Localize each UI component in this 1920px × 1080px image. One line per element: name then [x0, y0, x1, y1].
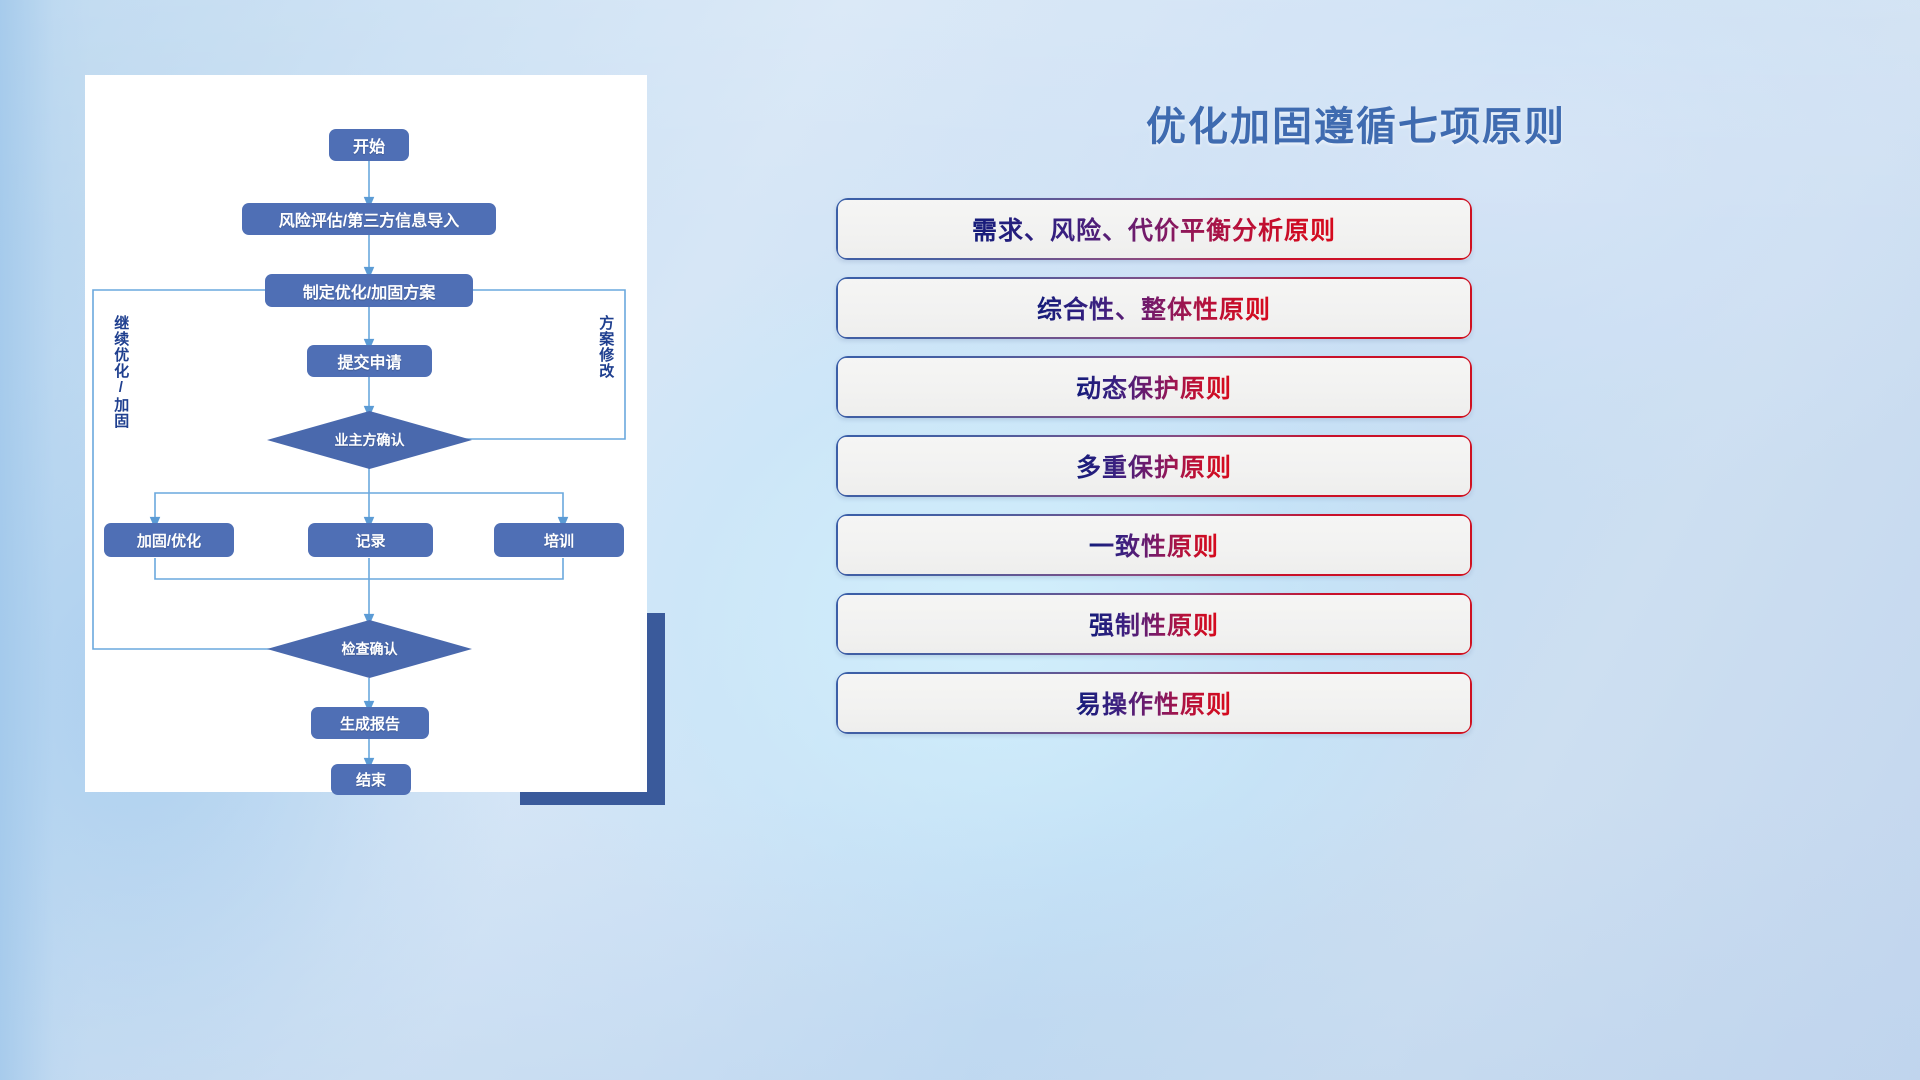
principles-panel: 优化加固遵循七项原则 需求、风险、代价平衡分析原则 综合性、整体性原则 动态保护…	[836, 80, 1876, 840]
principle-label: 易操作性原则	[1076, 685, 1232, 721]
flowchart-panel: 开始 风险评估/第三方信息导入 制定优化/加固方案 提交申请 业主方确认 加固/…	[85, 75, 647, 805]
flow-edge-label-continue-optimize: 继续优化/加固	[113, 315, 128, 445]
principle-label: 综合性、整体性原则	[1037, 290, 1271, 326]
principle-label: 一致性原则	[1089, 527, 1219, 563]
principle-label: 多重保护原则	[1076, 448, 1232, 484]
principle-label: 需求、风险、代价平衡分析原则	[972, 211, 1336, 247]
principle-item-3[interactable]: 动态保护原则	[836, 356, 1472, 418]
flow-node-generate-report[interactable]: 生成报告	[311, 707, 429, 739]
principle-item-7[interactable]: 易操作性原则	[836, 672, 1472, 734]
flow-node-owner-confirm-label: 业主方确认	[335, 430, 405, 450]
principle-item-6[interactable]: 强制性原则	[836, 593, 1472, 655]
principle-item-5[interactable]: 一致性原则	[836, 514, 1472, 576]
flow-node-risk-assessment[interactable]: 风险评估/第三方信息导入	[242, 203, 496, 235]
flow-node-start[interactable]: 开始	[329, 129, 409, 161]
flow-node-training[interactable]: 培训	[494, 523, 624, 557]
principle-item-2[interactable]: 综合性、整体性原则	[836, 277, 1472, 339]
flow-node-record[interactable]: 记录	[308, 523, 433, 557]
principles-title: 优化加固遵循七项原则	[836, 94, 1876, 152]
flow-node-check-confirm-label: 检查确认	[342, 639, 398, 659]
flow-node-submit-application[interactable]: 提交申请	[307, 345, 432, 377]
principle-label: 强制性原则	[1089, 606, 1219, 642]
principle-item-4[interactable]: 多重保护原则	[836, 435, 1472, 497]
principle-item-1[interactable]: 需求、风险、代价平衡分析原则	[836, 198, 1472, 260]
flow-edge-label-plan-revision: 方案修改	[598, 315, 613, 410]
flow-node-check-confirm[interactable]: 检查确认	[267, 620, 472, 678]
principle-label: 动态保护原则	[1076, 369, 1232, 405]
flow-node-reinforce[interactable]: 加固/优化	[104, 523, 234, 557]
flow-node-plan[interactable]: 制定优化/加固方案	[265, 274, 473, 307]
principles-list: 需求、风险、代价平衡分析原则 综合性、整体性原则 动态保护原则 多重保护原则 一…	[836, 198, 1876, 734]
flow-node-owner-confirm[interactable]: 业主方确认	[267, 411, 472, 469]
background-left-edge-band	[0, 0, 90, 1080]
flow-node-end[interactable]: 结束	[331, 764, 411, 795]
